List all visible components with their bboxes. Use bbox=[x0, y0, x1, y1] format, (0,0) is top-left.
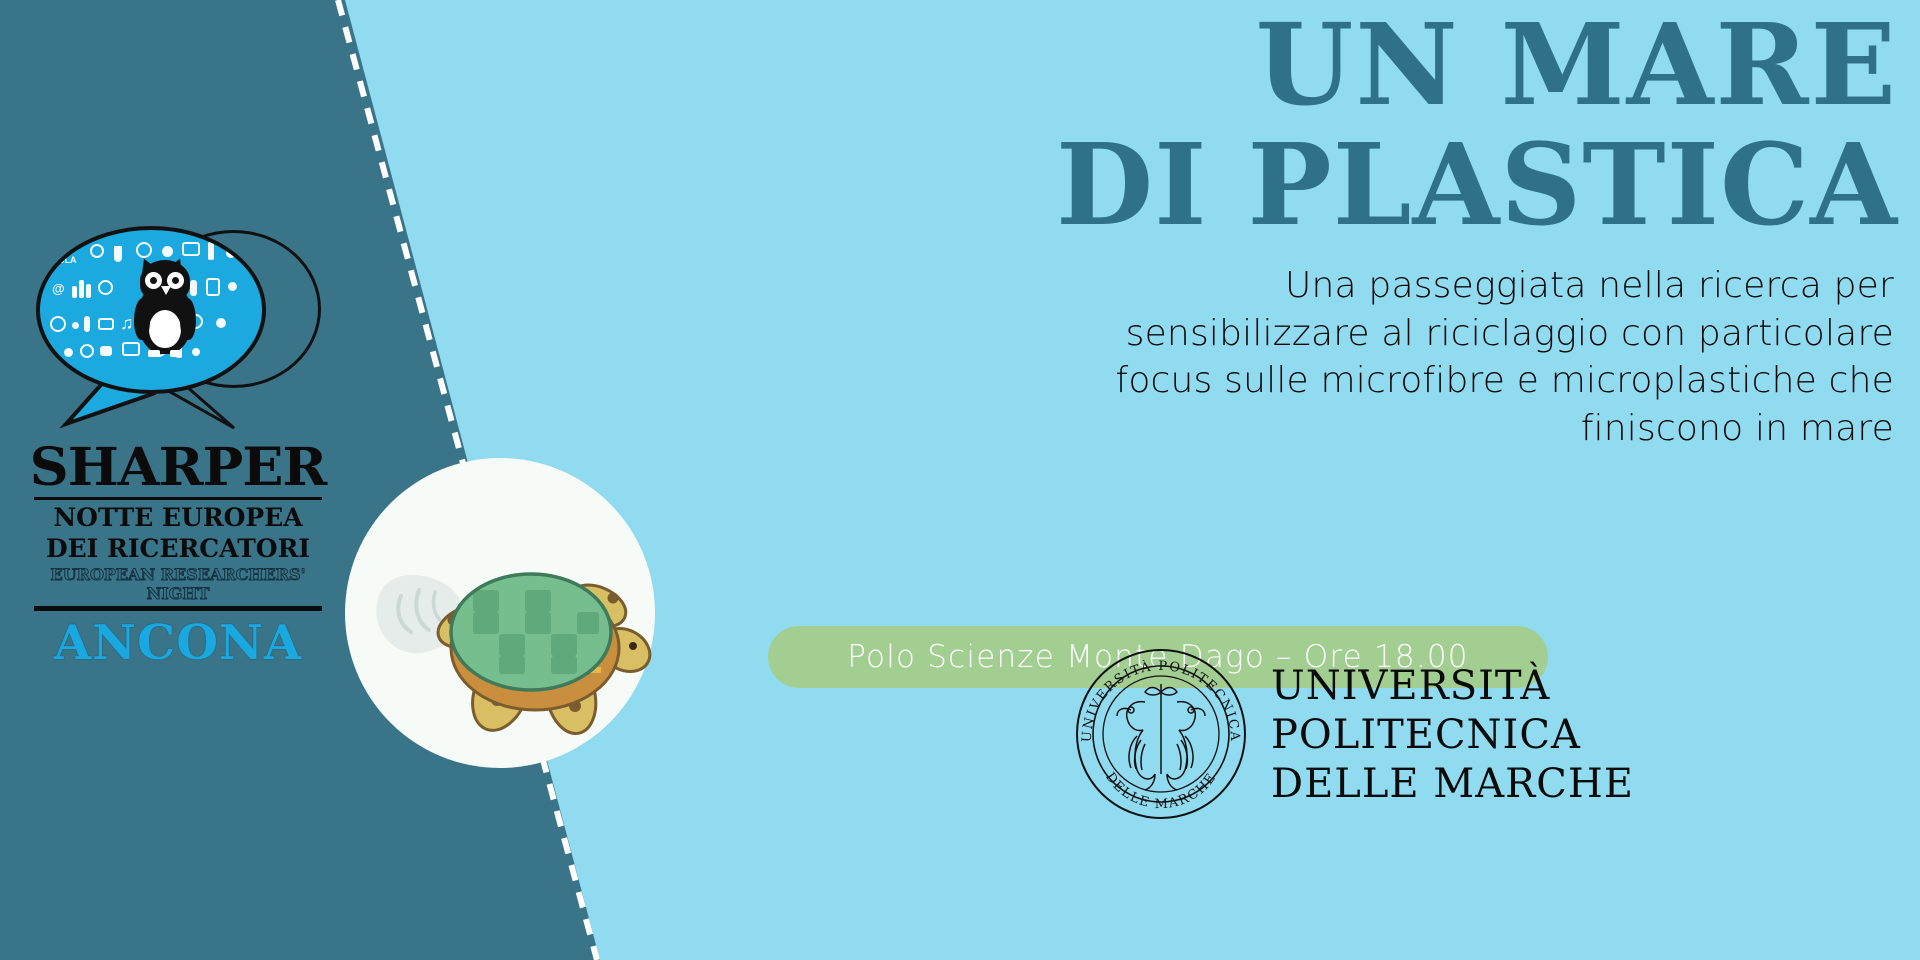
poster-subtitle: Una passeggiata nella ricerca per sensib… bbox=[1014, 262, 1894, 452]
univpm-seal-icon: UNIVERSITÀ POLITECNICA DELLE MARCHE bbox=[1075, 648, 1247, 820]
univpm-wordmark: UNIVERSITÀ POLITECNICA DELLE MARCHE bbox=[1271, 662, 1634, 808]
sea-turtle-illustration bbox=[375, 500, 675, 750]
subtitle-line-1: Una passeggiata nella ricerca per bbox=[1014, 262, 1894, 310]
subtitle-line-4: finiscono in mare bbox=[1014, 405, 1894, 453]
sharper-english-subtitle: EUROPEAN RESEARCHERS' NIGHT bbox=[28, 565, 328, 603]
science-icons-bubble: BLA @ bbox=[36, 226, 266, 394]
univpm-wordmark-line-1: UNIVERSITÀ bbox=[1271, 662, 1634, 711]
univpm-wordmark-line-3: DELLE MARCHE bbox=[1271, 760, 1634, 809]
svg-text:DELLE MARCHE: DELLE MARCHE bbox=[1102, 770, 1220, 812]
palette-icon bbox=[50, 316, 66, 332]
dna-icon bbox=[80, 344, 94, 358]
bar2-icon bbox=[79, 280, 84, 298]
bla-text-icon: BLA bbox=[58, 256, 77, 265]
divider-thick bbox=[34, 606, 322, 611]
atom-icon bbox=[90, 244, 104, 258]
sharper-wordmark: SHARPER bbox=[22, 443, 334, 492]
poster-title: UN MARE DI PLASTICA bbox=[648, 6, 1898, 246]
pencil-icon bbox=[208, 242, 214, 260]
title-line-2: DI PLASTICA bbox=[648, 126, 1898, 246]
leaf-icon bbox=[216, 318, 226, 328]
bar3-icon bbox=[86, 284, 91, 298]
book-icon bbox=[206, 278, 220, 296]
owl-icon bbox=[132, 258, 198, 358]
sharper-subtitle-line1: NOTTE EUROPEA bbox=[28, 505, 328, 531]
sharper-city-label: ANCONA bbox=[28, 615, 328, 671]
sharper-logo: BLA @ bbox=[28, 222, 328, 732]
poster-canvas: BLA @ bbox=[0, 0, 1920, 960]
magnet-icon bbox=[228, 282, 237, 291]
dot2-icon bbox=[72, 322, 79, 329]
subtitle-line-2: sensibilizzare al riciclaggio con partic… bbox=[1014, 310, 1894, 358]
univpm-wordmark-line-2: POLITECNICA bbox=[1271, 711, 1634, 760]
subtitle-line-3: focus sulle microfibre e microplastiche … bbox=[1014, 357, 1894, 405]
univpm-logo: UNIVERSITÀ POLITECNICA DELLE MARCHE bbox=[1075, 648, 1905, 948]
title-line-1: UN MARE bbox=[648, 6, 1898, 126]
bar1-icon bbox=[72, 286, 77, 298]
at-icon: @ bbox=[52, 282, 65, 295]
monitor-icon bbox=[182, 242, 200, 256]
sharper-speech-bubbles: BLA @ bbox=[28, 222, 328, 437]
flask-icon bbox=[114, 246, 122, 262]
dot3-icon bbox=[64, 348, 73, 357]
clock-icon bbox=[98, 280, 113, 295]
camera-icon bbox=[98, 318, 114, 330]
cloud-icon bbox=[100, 346, 112, 356]
bulb-icon bbox=[226, 248, 236, 258]
tube-icon bbox=[84, 316, 90, 332]
sharper-subtitle-line2: DEI RICERCATORI bbox=[28, 536, 328, 562]
